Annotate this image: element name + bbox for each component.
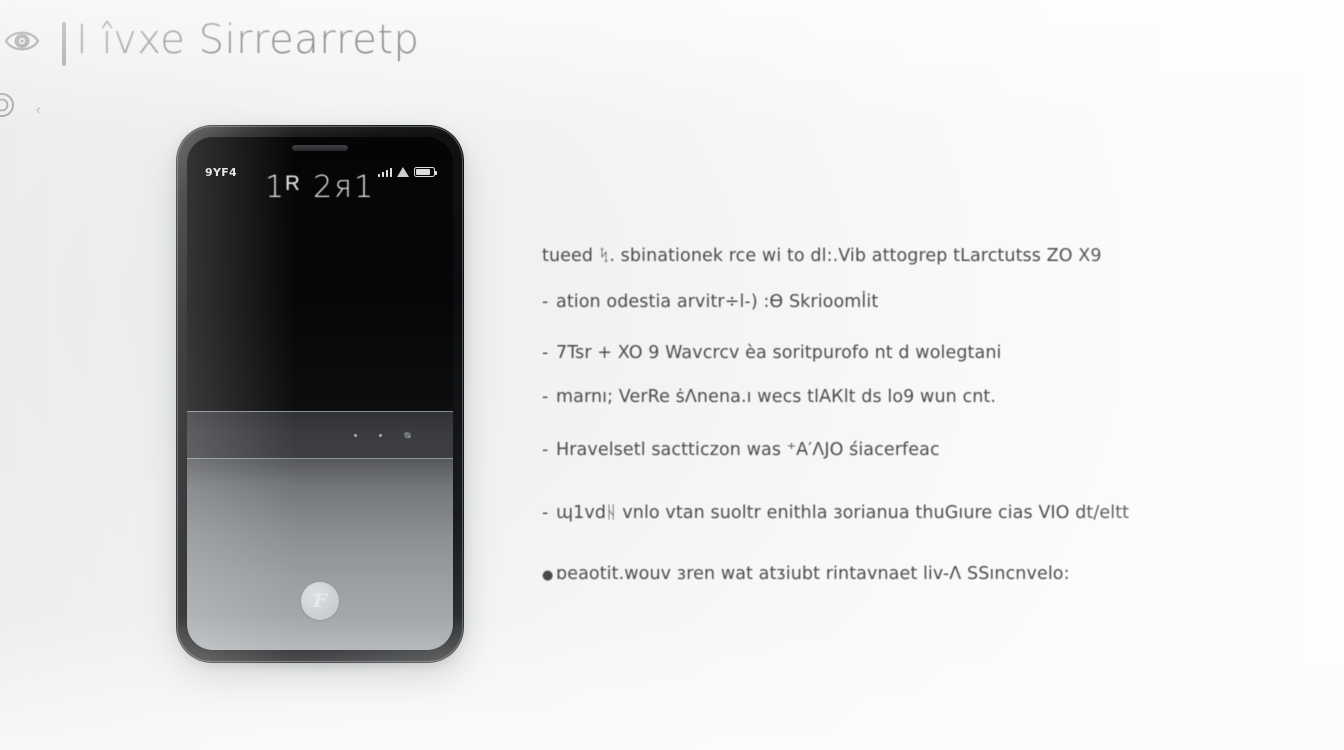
list-item-text: ɒeaotit.wouv ɜren wat atᴣiubt rintavnaet… [556, 564, 1070, 584]
earpiece-speaker-icon [292, 145, 348, 151]
list-marker: - [542, 387, 556, 407]
list-item: - ɰ1vdᚺ vnlo vtan suoltr enithla ɜorianu… [542, 503, 1242, 523]
phone-mockup: 9YF4 1ᴿ 2ᴙ1 ᴓ [176, 125, 464, 663]
badge-tick-glyph: ‹ [34, 101, 42, 119]
phone-screen[interactable]: 9YF4 1ᴿ 2ᴙ1 ᴓ [187, 137, 453, 650]
divider-dot-left [354, 434, 357, 437]
list-item: - Hravelsetl sactticzon was ⁺A′ɅJO śiace… [542, 440, 1242, 460]
screen-light-panel: F [187, 459, 453, 650]
list-item: - marnı; VerRe ṡɅnena.ı wecs tlAКlt ds l… [542, 387, 1242, 407]
list-marker: ● [542, 568, 556, 583]
divider-marks: ᴓ [187, 411, 453, 459]
divider-glyph: ᴓ [404, 430, 411, 441]
list-item-text: ation odestia arvitr÷l-) :Ө Skriooml̇it [556, 292, 878, 312]
eye-icon [4, 26, 40, 56]
title-divider-bar [62, 22, 66, 66]
screen-divider-band: ᴓ [187, 411, 453, 459]
list-marker: - [542, 440, 556, 460]
list-item-text: ɰ1vdᚺ vnlo vtan suoltr enithla ɜorianua … [556, 503, 1129, 523]
page-title: I îvxe Sirrearretp [76, 17, 419, 63]
list-item: - ation odestia arvitr÷l-) :Ө Skriooml̇i… [542, 292, 1242, 312]
list-item: ● ɒeaotit.wouv ɜren wat atᴣiubt rintavna… [542, 564, 1242, 584]
list-item-text: tueed ᛪ. sbinationek rce wi to dl:.Vib a… [542, 246, 1102, 266]
list-item-text: Hravelsetl sactticzon was ⁺A′ɅJO śiacerf… [556, 440, 940, 460]
page-header: I îvxe Sirrearretp ‹ [0, 0, 1344, 135]
list-item-text: marnı; VerRe ṡɅnena.ı wecs tlAКlt ds lo9… [556, 387, 996, 407]
list-marker: - [542, 343, 556, 363]
divider-dot-right [379, 434, 382, 437]
list-marker: - [542, 503, 556, 523]
list-item-text: 7Tsr + XO 9 Wavcrcv èa soritpurofo nt d … [556, 343, 1002, 363]
clock-label: 1ᴿ 2ᴙ1 [187, 170, 453, 205]
circle-badge-icon [0, 90, 28, 120]
home-button[interactable]: F [301, 582, 339, 620]
page-canvas: I îvxe Sirrearretp ‹ 9YF4 [0, 0, 1344, 750]
list-item: - 7Tsr + XO 9 Wavcrcv èa soritpurofo nt … [542, 343, 1242, 363]
list-item: tueed ᛪ. sbinationek rce wi to dl:.Vib a… [542, 246, 1242, 266]
notes-list: tueed ᛪ. sbinationek rce wi to dl:.Vib a… [542, 246, 1242, 584]
home-button-glyph: F [313, 592, 327, 611]
list-marker: - [542, 292, 556, 312]
